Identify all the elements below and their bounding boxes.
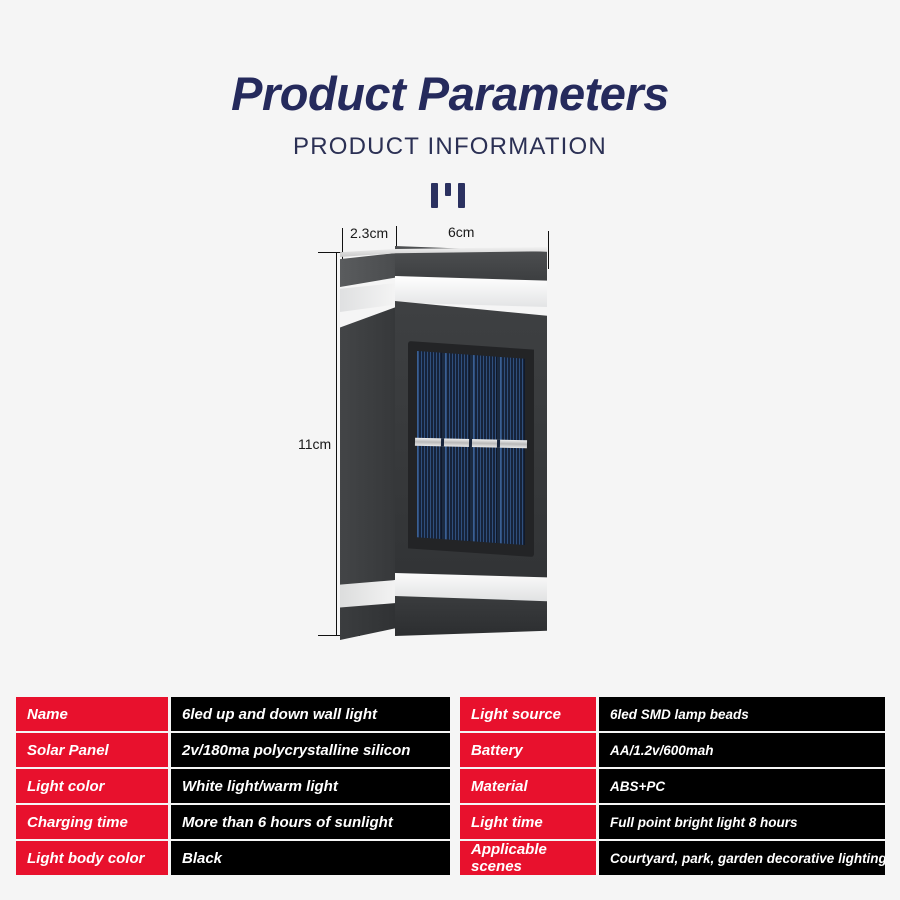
spec-value: Courtyard, park, garden decorative light…: [599, 841, 885, 875]
product-illustration: 2.3cm 6cm 11cm: [0, 0, 900, 680]
product-parameters-page: Product Parameters PRODUCT INFORMATION 2…: [0, 0, 900, 900]
height-dimension-line: [336, 252, 337, 635]
spec-value: Black: [171, 841, 450, 875]
table-row: Light color White light/warm light: [16, 769, 450, 803]
spec-value: 6led up and down wall light: [171, 697, 450, 731]
spec-label: Light source: [460, 697, 596, 731]
table-row: Battery AA/1.2v/600mah: [460, 733, 885, 767]
spec-label: Light color: [16, 769, 168, 803]
busbar-gap: [469, 439, 472, 447]
table-row: Light time Full point bright light 8 hou…: [460, 805, 885, 839]
table-row: Light body color Black: [16, 841, 450, 875]
spec-value: White light/warm light: [171, 769, 450, 803]
spec-table-right: Light source 6led SMD lamp beads Battery…: [460, 697, 885, 875]
spec-label: Charging time: [16, 805, 168, 839]
solar-cell: [473, 351, 498, 545]
spec-value: 6led SMD lamp beads: [599, 697, 885, 731]
spec-label: Name: [16, 697, 168, 731]
spec-table-left: Name 6led up and down wall light Solar P…: [16, 697, 450, 875]
table-row: Name 6led up and down wall light: [16, 697, 450, 731]
spec-value: ABS+PC: [599, 769, 885, 803]
table-row: Charging time More than 6 hours of sunli…: [16, 805, 450, 839]
table-row: Light source 6led SMD lamp beads: [460, 697, 885, 731]
table-row: Solar Panel 2v/180ma polycrystalline sil…: [16, 733, 450, 767]
solar-cell: [445, 351, 470, 545]
lamp-base-front: [395, 596, 547, 636]
spec-label: Light time: [460, 805, 596, 839]
spec-value: Full point bright light 8 hours: [599, 805, 885, 839]
table-row: Applicable scenes Courtyard, park, garde…: [460, 841, 885, 875]
width-dimension-label: 6cm: [448, 224, 474, 240]
spec-label: Applicable scenes: [460, 841, 596, 875]
spec-label: Light body color: [16, 841, 168, 875]
spec-label: Battery: [460, 733, 596, 767]
busbar-gap: [441, 438, 444, 446]
lamp-top-cap-side: [340, 253, 396, 287]
table-row: Material ABS+PC: [460, 769, 885, 803]
spec-value: AA/1.2v/600mah: [599, 733, 885, 767]
solar-cell: [417, 351, 442, 545]
spec-label: Material: [460, 769, 596, 803]
lamp-base-side: [340, 603, 396, 640]
busbar-gap: [497, 440, 500, 448]
upper-light-strip-front: [395, 276, 547, 307]
solar-wall-light-product: [340, 243, 555, 643]
solar-panel: [417, 351, 525, 545]
height-dimension-label: 11cm: [298, 436, 331, 452]
lamp-body-side-face: [340, 307, 396, 600]
depth-dimension-label: 2.3cm: [350, 225, 388, 241]
spec-value: More than 6 hours of sunlight: [171, 805, 450, 839]
upper-light-strip-side: [340, 283, 396, 312]
spec-value: 2v/180ma polycrystalline silicon: [171, 733, 450, 767]
spec-label: Solar Panel: [16, 733, 168, 767]
